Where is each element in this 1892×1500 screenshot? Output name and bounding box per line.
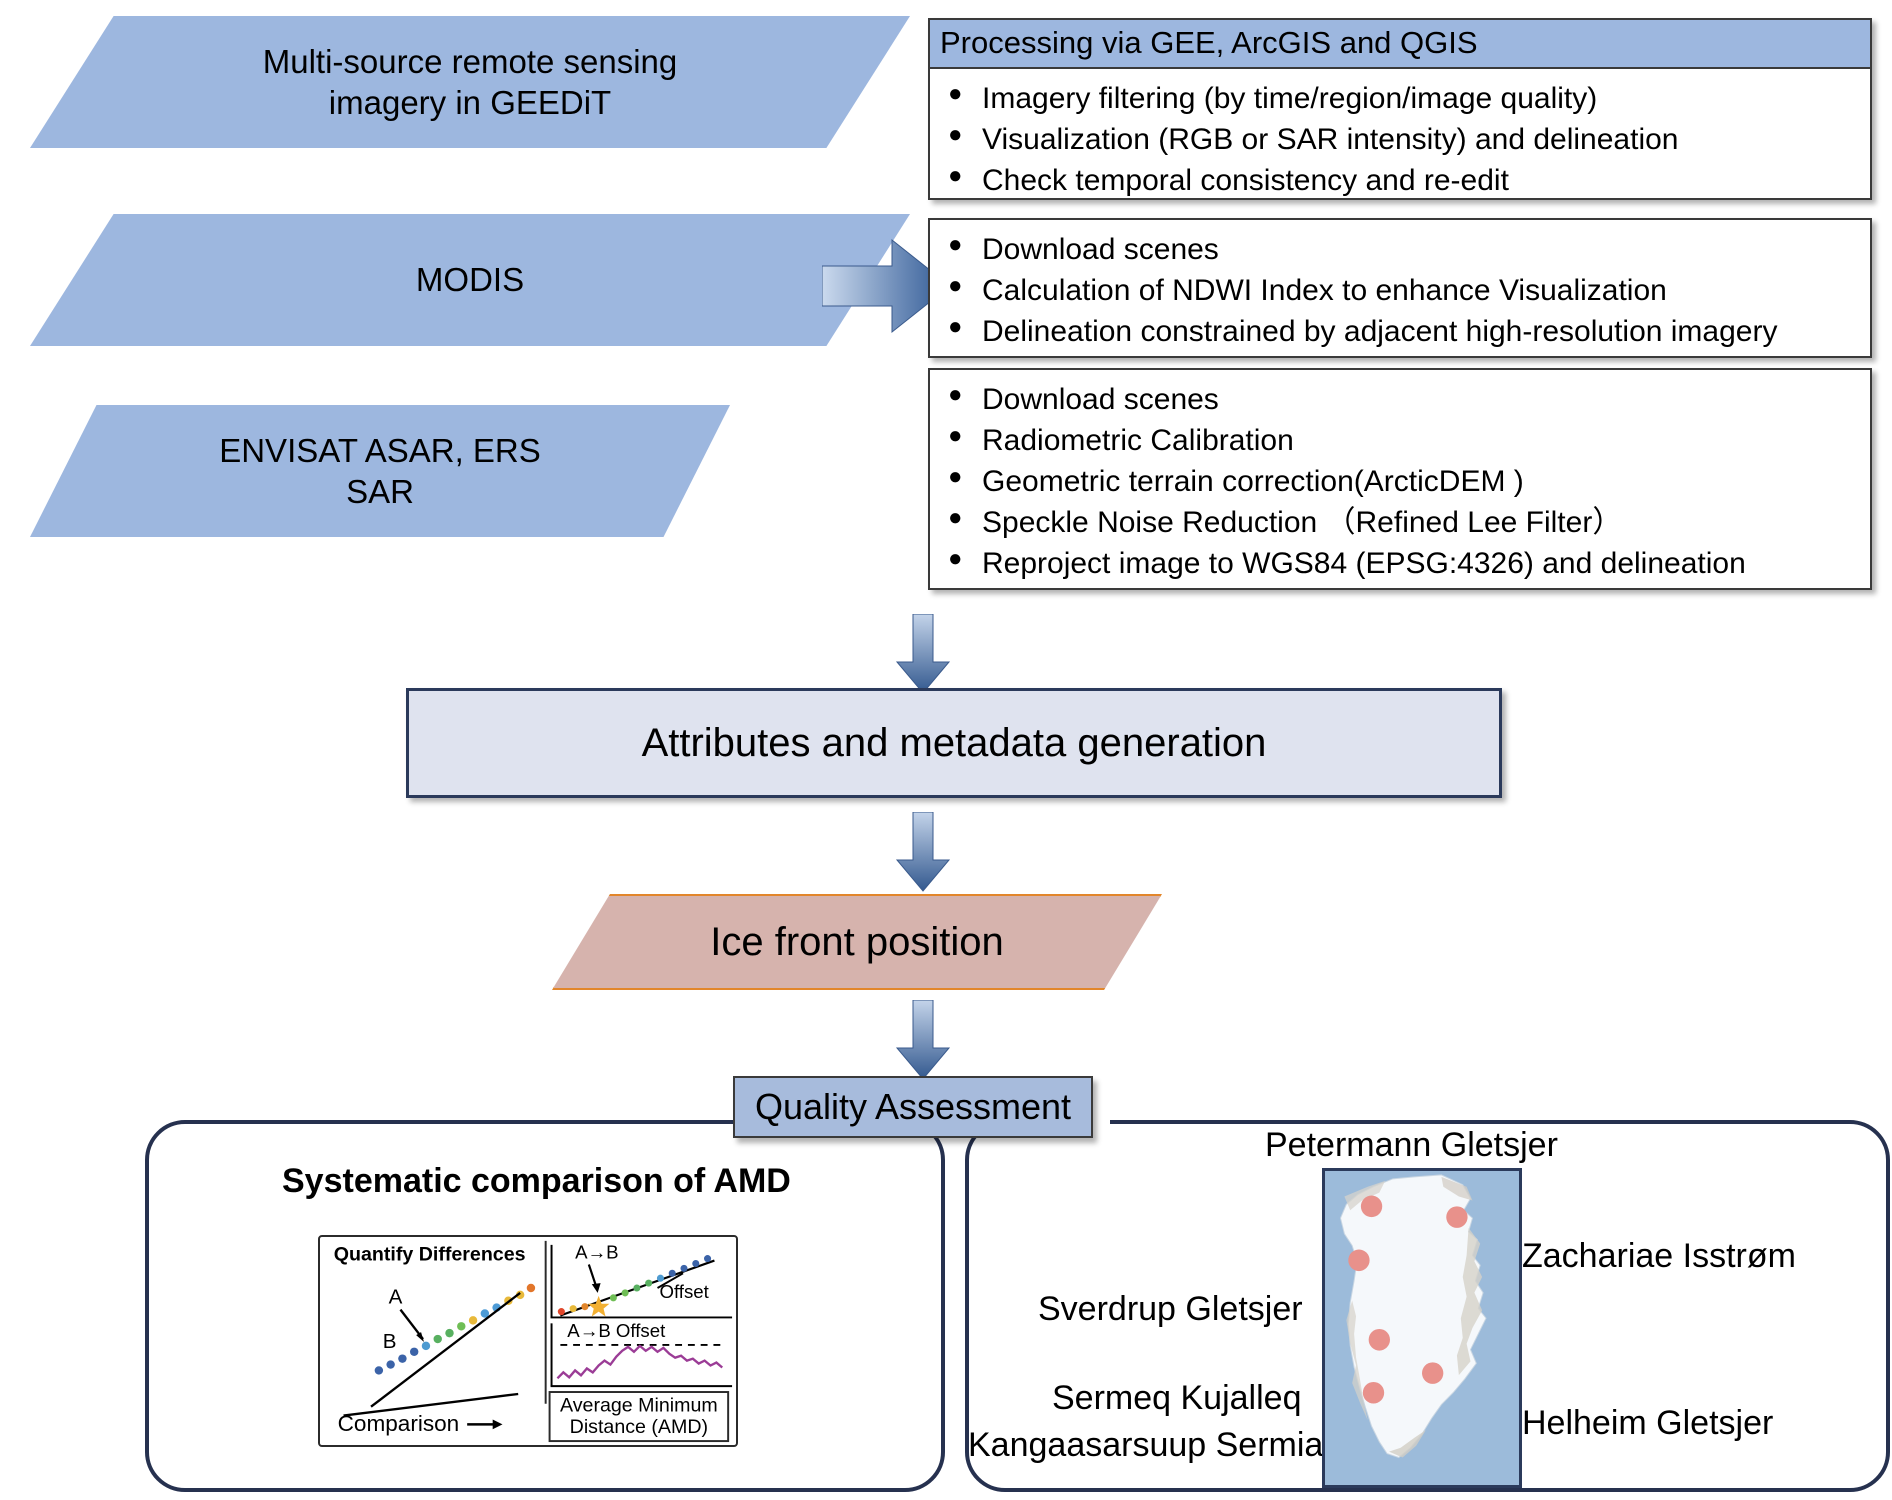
greenland-map-svg: [1325, 1171, 1519, 1485]
ice-front-position-label: Ice front position: [710, 917, 1004, 967]
glacier-label-petermann: Petermann Gletsjer: [1265, 1126, 1558, 1165]
processing-box-3-list: Download scenes Radiometric Calibration …: [930, 370, 1870, 593]
source-label-geedit: Multi-source remote sensing imagery in G…: [263, 41, 678, 124]
svg-text:A→B Offset: A→B Offset: [567, 1320, 666, 1341]
list-item: Calculation of NDWI Index to enhance Vis…: [946, 271, 1864, 310]
list-item: Download scenes: [946, 380, 1864, 419]
list-item: Reproject image to WGS84 (EPSG:4326) and…: [946, 544, 1864, 583]
source-label-modis: MODIS: [416, 259, 524, 300]
arrow-metadata-to-icefront: [895, 812, 951, 892]
list-item: Geometric terrain correction(ArcticDEM ): [946, 462, 1864, 501]
svg-text:A→B: A→B: [575, 1242, 618, 1263]
svg-text:B: B: [383, 1330, 397, 1353]
svg-text:Comparison: Comparison: [338, 1411, 460, 1436]
glacier-label-zachariae: Zachariae Isstrøm: [1522, 1237, 1796, 1276]
processing-box-optical: Processing via GEE, ArcGIS and QGIS Imag…: [928, 18, 1872, 200]
svg-text:Average Minimum: Average Minimum: [560, 1395, 718, 1417]
source-shape-modis[interactable]: MODIS: [30, 214, 910, 346]
list-item: Download scenes: [946, 230, 1864, 269]
map-marker: [1363, 1382, 1384, 1404]
arrow-icefront-to-quality: [895, 1000, 951, 1080]
map-marker: [1361, 1196, 1382, 1218]
svg-text:Quantify Differences: Quantify Differences: [334, 1244, 526, 1266]
quality-assessment-label: Quality Assessment: [755, 1086, 1071, 1128]
processing-box-header: Processing via GEE, ArcGIS and QGIS: [930, 20, 1870, 69]
list-item: Visualization (RGB or SAR intensity) and…: [946, 120, 1864, 159]
map-marker: [1446, 1206, 1467, 1228]
processing-box-modis: Download scenes Calculation of NDWI Inde…: [928, 218, 1872, 358]
source-label-sar: ENVISAT ASAR, ERS SAR: [219, 430, 541, 513]
greenland-map: [1322, 1168, 1522, 1488]
glacier-label-sverdrup: Sverdrup Gletsjer: [1038, 1290, 1303, 1329]
quality-assessment-box[interactable]: Quality Assessment: [733, 1076, 1093, 1138]
ice-front-position-shape[interactable]: Ice front position: [552, 894, 1162, 990]
source-shape-geedit[interactable]: Multi-source remote sensing imagery in G…: [30, 16, 910, 148]
svg-text:A: A: [389, 1286, 403, 1309]
list-item: Speckle Noise Reduction （Refined Lee Fil…: [946, 503, 1864, 542]
processing-box-2-list: Download scenes Calculation of NDWI Inde…: [930, 220, 1870, 361]
list-item: Delineation constrained by adjacent high…: [946, 312, 1864, 351]
glacier-label-sermeq: Sermeq Kujalleq: [1052, 1379, 1301, 1418]
processing-box-sar: Download scenes Radiometric Calibration …: [928, 368, 1872, 590]
list-item: Radiometric Calibration: [946, 421, 1864, 460]
map-marker: [1369, 1329, 1390, 1351]
arrow-processing-to-metadata: [895, 614, 951, 694]
svg-text:Distance (AMD): Distance (AMD): [570, 1416, 708, 1438]
processing-box-1-list: Imagery filtering (by time/region/image …: [930, 69, 1870, 210]
metadata-generation-box[interactable]: Attributes and metadata generation: [406, 688, 1502, 798]
amd-panel-title: Systematic comparison of AMD: [282, 1162, 791, 1201]
amd-figure-svg: Quantify Differences A B Comparison: [320, 1237, 736, 1445]
map-marker: [1348, 1250, 1369, 1272]
svg-text:Offset: Offset: [659, 1281, 709, 1302]
glacier-label-helheim: Helheim Gletsjer: [1522, 1404, 1773, 1443]
list-item: Imagery filtering (by time/region/image …: [946, 79, 1864, 118]
metadata-generation-label: Attributes and metadata generation: [642, 721, 1267, 766]
amd-figure: Quantify Differences A B Comparison: [318, 1235, 738, 1447]
source-shape-sar[interactable]: ENVISAT ASAR, ERS SAR: [30, 405, 730, 537]
glacier-label-kangaasarsuup: Kangaasarsuup Sermia: [968, 1426, 1323, 1465]
list-item: Check temporal consistency and re-edit: [946, 161, 1864, 200]
map-marker: [1422, 1362, 1443, 1384]
